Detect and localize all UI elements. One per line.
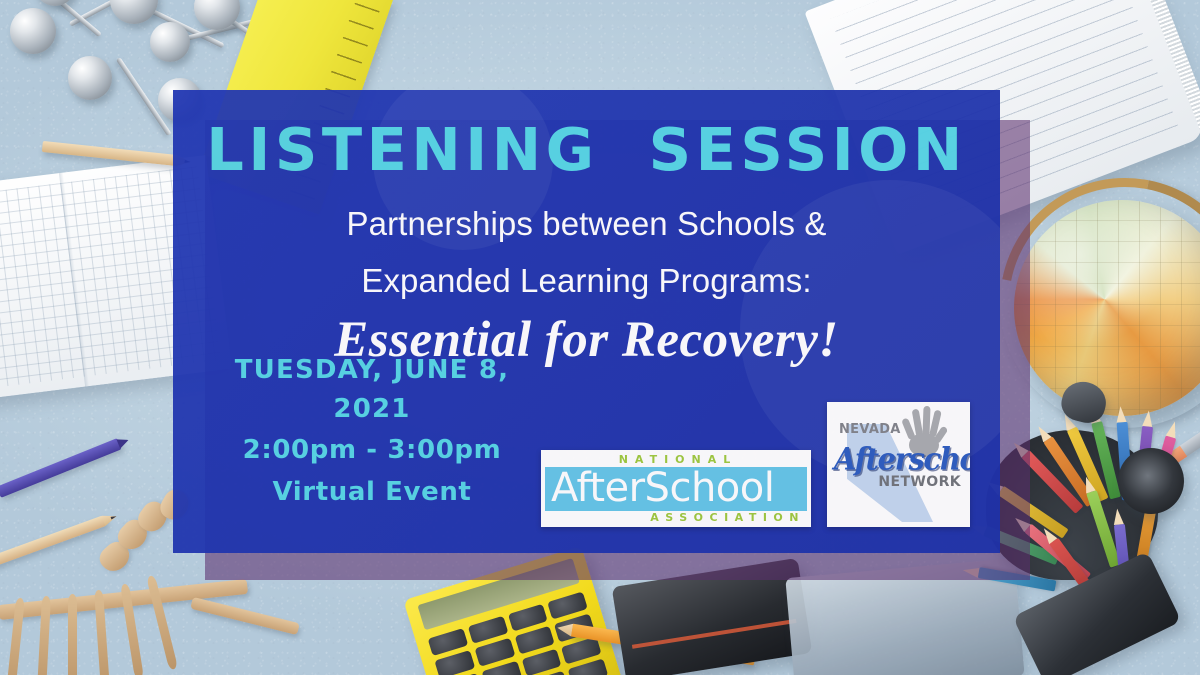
naa-logo-main-text: AfterSchool — [551, 468, 801, 508]
event-details-row: TUESDAY, JUNE 8, 2021 2:00pm - 3:00pm Vi… — [203, 351, 970, 539]
microscope-lens-object — [1118, 448, 1184, 514]
event-flyer: LISTENING SESSION Partnerships between S… — [0, 0, 1200, 675]
logo-group: NATIONAL AfterSchool ASSOCIATION — [541, 402, 970, 539]
nevada-logo-main-text: Afterschool — [834, 441, 970, 477]
subtitle-line-1: Partnerships between Schools & — [203, 196, 970, 253]
nevada-logo-state-text: NEVADA — [839, 422, 901, 437]
nevada-afterschool-network-logo: NEVADA Afterschool NETWORK — [827, 402, 970, 527]
event-time: 2:00pm - 3:00pm — [203, 429, 541, 471]
event-mode: Virtual Event — [203, 471, 541, 513]
subtitle-line-2: Expanded Learning Programs: — [203, 253, 970, 310]
nevada-logo-network-text: NETWORK — [878, 474, 961, 490]
content-panel: LISTENING SESSION Partnerships between S… — [173, 90, 1000, 553]
event-details: TUESDAY, JUNE 8, 2021 2:00pm - 3:00pm Vi… — [203, 351, 541, 539]
page-title: LISTENING SESSION — [203, 120, 970, 180]
naa-logo-band: AfterSchool — [545, 467, 807, 511]
naa-logo-bottom-text: ASSOCIATION — [545, 511, 807, 525]
event-date: TUESDAY, JUNE 8, 2021 — [203, 351, 541, 429]
naa-logo: NATIONAL AfterSchool ASSOCIATION — [541, 450, 811, 527]
